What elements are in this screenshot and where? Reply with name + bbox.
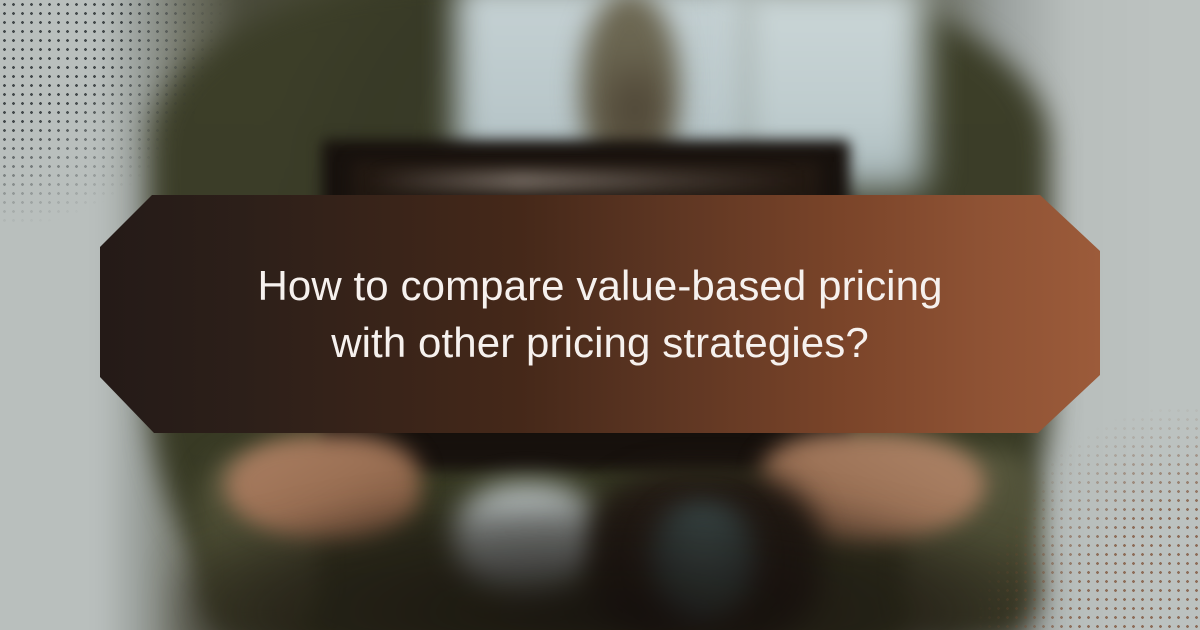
photo-screen-glare xyxy=(370,170,800,192)
og-image-card: How to compare value-based pricing with … xyxy=(0,0,1200,630)
photo-bottom-vignette xyxy=(170,500,1040,630)
page-title: How to compare value-based pricing with … xyxy=(140,257,1060,371)
title-banner: How to compare value-based pricing with … xyxy=(100,195,1100,433)
